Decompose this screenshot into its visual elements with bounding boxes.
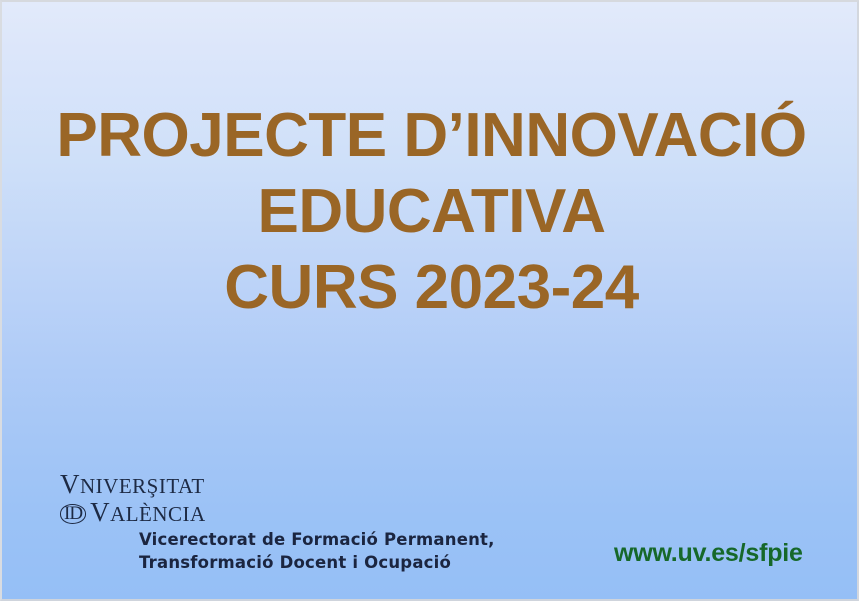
presentation-slide: PROJECTE D’INNOVACIÓ EDUCATIVA CURS 2023… [0,0,859,601]
logo-line-valencia: IDVALÈNCIA [60,498,290,528]
universitat-de-valencia-logo: VNIVERŞITAT IDVALÈNCIA [60,470,290,528]
title-line-3: CURS 2023-24 [2,250,859,326]
logo-de-ligature-icon: ID [60,504,86,524]
logo-initial-v2: V [90,497,110,527]
vicerectorat-unit-name: Vicerectorat de Formació Permanent, Tran… [139,528,569,574]
logo-line-universitat: VNIVERŞITAT [60,470,290,500]
unit-line-2: Transformació Docent i Ocupació [139,551,569,574]
logo-word-universitat: NIVERŞITAT [80,474,205,498]
title-line-2: EDUCATIVA [2,174,859,250]
website-url[interactable]: www.uv.es/sfpie [614,538,803,568]
title-line-1: PROJECTE D’INNOVACIÓ [2,98,859,174]
slide-title: PROJECTE D’INNOVACIÓ EDUCATIVA CURS 2023… [2,98,859,326]
logo-initial-v: V [60,469,80,499]
unit-line-1: Vicerectorat de Formació Permanent, [139,528,569,551]
logo-word-valencia: ALÈNCIA [110,502,206,526]
slide-footer: VNIVERŞITAT IDVALÈNCIA Vicerectorat de F… [2,464,859,594]
